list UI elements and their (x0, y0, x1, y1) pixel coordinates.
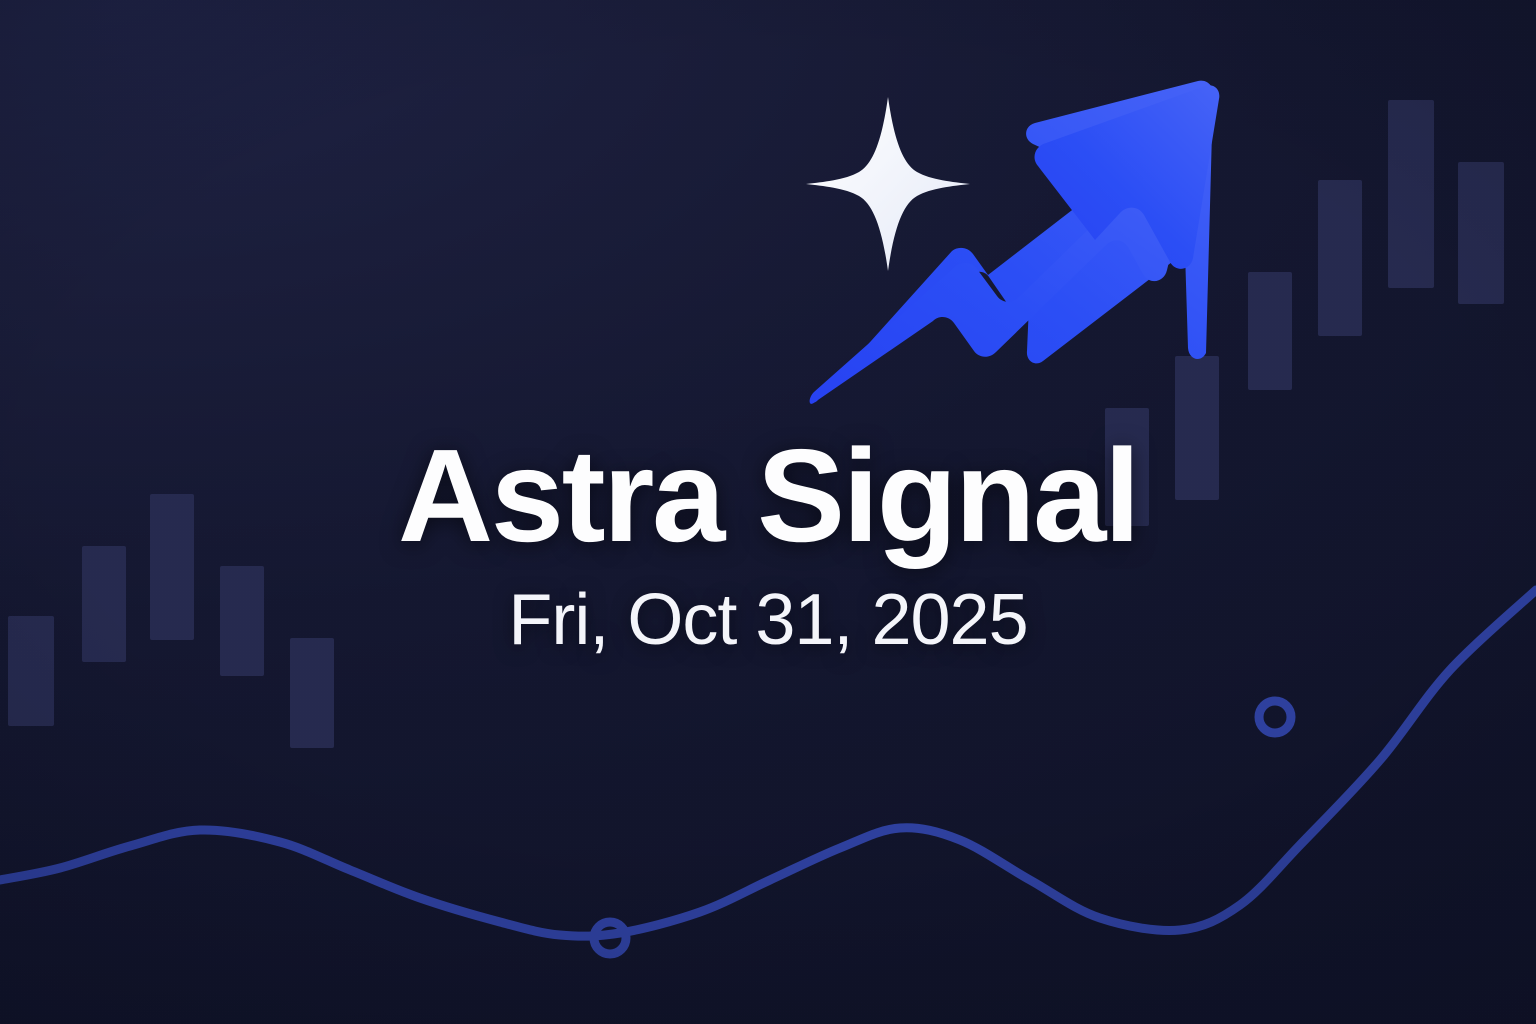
issue-date: Fri, Oct 31, 2025 (0, 584, 1536, 656)
title-block: Astra Signal Fri, Oct 31, 2025 (0, 430, 1536, 656)
brand-logo-mark (795, 70, 1225, 420)
poster-canvas: Astra Signal Fri, Oct 31, 2025 (0, 0, 1536, 1024)
four-point-sparkle-icon (806, 97, 970, 271)
trending-up-arrow-shape (810, 85, 1220, 404)
trend-line-marker (1259, 701, 1291, 733)
page-title: Astra Signal (0, 430, 1536, 562)
